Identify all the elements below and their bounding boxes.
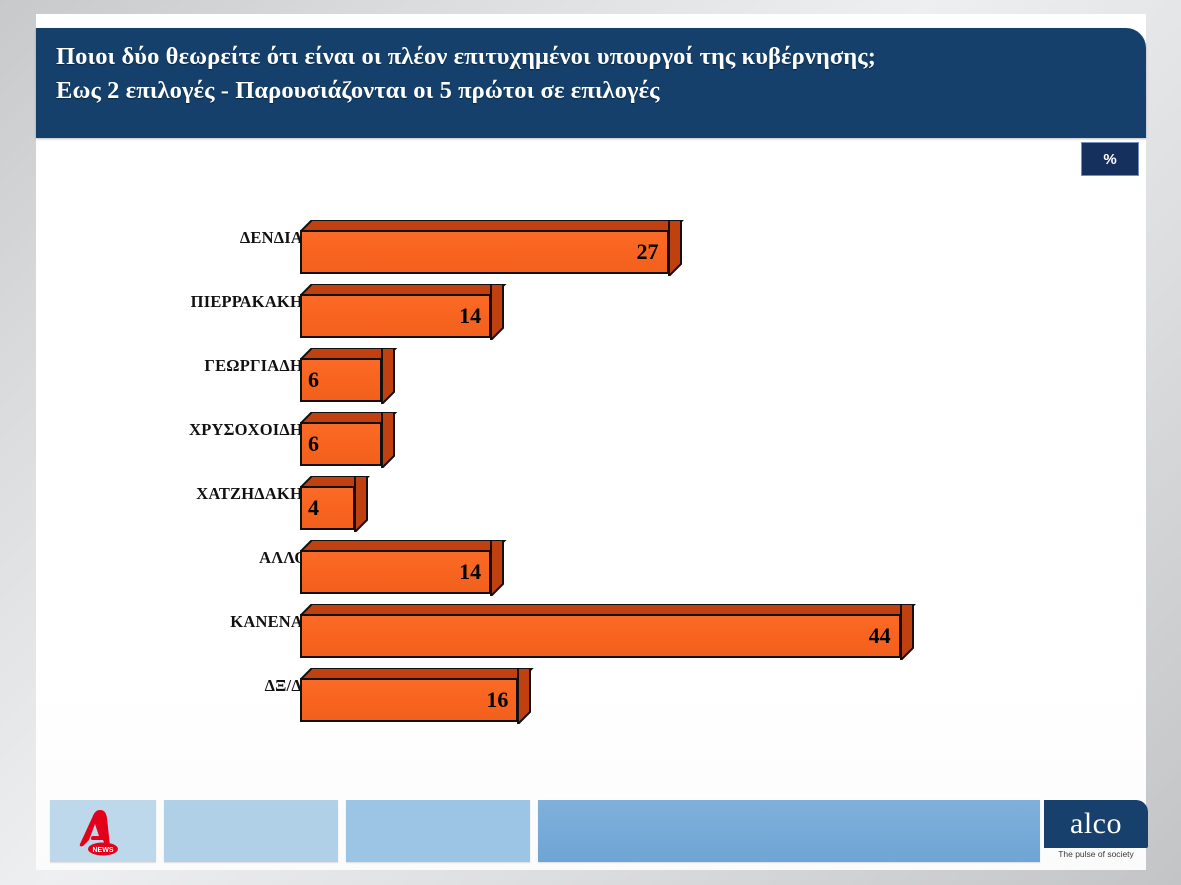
bar-value-label: 6 [308,358,319,402]
bar: 14 [300,540,491,584]
bar-row: ΧΑΤΖΗΔΑΚΗΣ4 [36,466,1146,522]
bar-value-label: 16 [486,678,508,722]
alpha-news-logo: NEWS [50,800,156,862]
bar-side-face [380,348,396,404]
bar-category-label: ΧΑΤΖΗΔΑΚΗΣ [196,466,314,522]
bar-row: ΧΡΥΣΟΧΟΙΔΗΣ6 [36,402,1146,458]
percent-unit-label: % [1103,151,1116,168]
page-title-line-2: Εως 2 επιλογές - Παρουσιάζονται οι 5 πρώ… [56,77,660,105]
bar-row: ΠΙΕΡΡΑΚΑΚΗΣ14 [36,274,1146,330]
bar-front-face [300,230,669,274]
bar-row: ΚΑΝΕΝΑΣ44 [36,594,1146,650]
bar: 14 [300,284,491,328]
page-title-line-1: Ποιοι δύο θεωρείτε ότι είναι οι πλέον επ… [56,43,876,71]
bar-side-face [489,284,505,340]
bar: 27 [300,220,669,264]
bar-side-face [667,220,683,276]
slide-root: Ποιοι δύο θεωρείτε ότι είναι οι πλέον επ… [0,0,1181,885]
bar-value-label: 27 [637,230,659,274]
bar-row: ΔΞ/ΔΑ16 [36,658,1146,714]
bar-value-label: 44 [869,614,891,658]
alco-wordmark: alco [1070,809,1122,839]
bar-value-label: 14 [459,294,481,338]
bar-side-face [353,476,369,532]
alpha-news-logo-icon: NEWS [74,806,132,856]
bar-row: ΔΕΝΔΙΑΣ27 [36,210,1146,266]
bar-side-face [489,540,505,596]
bar-category-label: ΧΡΥΣΟΧΟΙΔΗΣ [189,402,314,458]
bar-chart: ΔΕΝΔΙΑΣ27ΠΙΕΡΡΑΚΑΚΗΣ14ΓΕΩΡΓΙΑΔΗΣ6ΧΡΥΣΟΧΟ… [36,210,1146,730]
bar: 4 [300,476,355,520]
alco-logo-box: alco [1044,800,1148,848]
footer-block-2 [164,800,338,862]
footer-block-4 [538,800,1040,862]
svg-text:NEWS: NEWS [93,847,114,854]
bar: 6 [300,348,382,392]
bar: 44 [300,604,901,648]
footer-bar: NEWS alco The pulse of society [36,800,1146,864]
bar: 6 [300,412,382,456]
bar-category-label: ΓΕΩΡΓΙΑΔΗΣ [204,338,314,394]
bar-side-face [899,604,915,660]
bar-value-label: 4 [308,486,319,530]
title-banner: Ποιοι δύο θεωρείτε ότι είναι οι πλέον επ… [36,28,1146,138]
alco-logo: alco The pulse of society [1044,800,1148,862]
percent-unit-badge: % [1081,142,1139,176]
bar-value-label: 6 [308,422,319,466]
alco-tagline: The pulse of society [1044,849,1148,859]
bar-side-face [380,412,396,468]
bar-value-label: 14 [459,550,481,594]
bar-front-face [300,614,901,658]
bar-row: ΓΕΩΡΓΙΑΔΗΣ6 [36,338,1146,394]
bar-row: ΑΛΛΟΙ14 [36,530,1146,586]
bar-side-face [516,668,532,724]
bar: 16 [300,668,518,712]
footer-block-3 [346,800,530,862]
bar-category-label: ΠΙΕΡΡΑΚΑΚΗΣ [191,274,314,330]
